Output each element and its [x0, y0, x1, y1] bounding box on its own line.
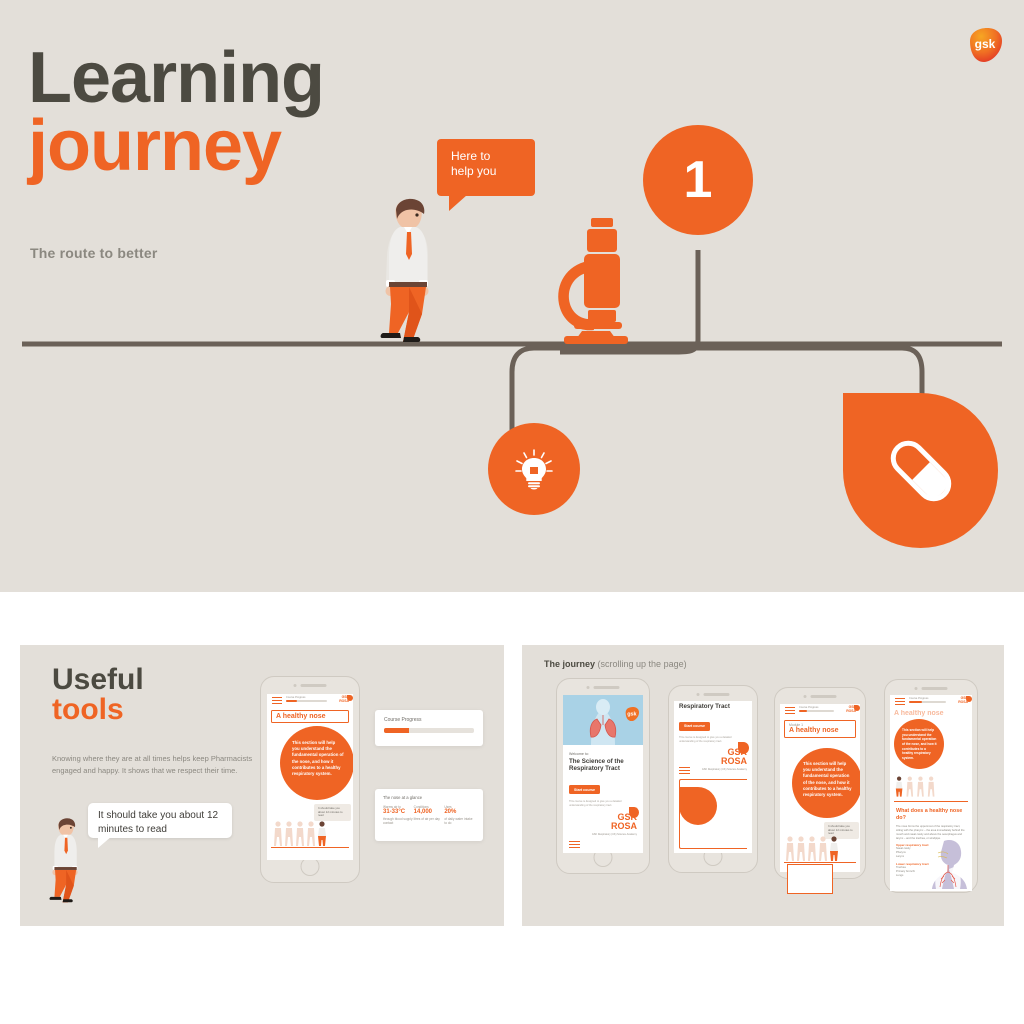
journey-label-rest: (scrolling up the page) — [598, 659, 687, 669]
journey-phone-2: Respiratory Tract Start course This cour… — [668, 685, 758, 873]
welcome-kicker: Welcome to: — [569, 752, 637, 756]
journey-node-1[interactable]: 1 — [643, 125, 753, 235]
tools-speech-bubble-text: It should take you about 12 minutes to r… — [88, 803, 232, 836]
useful-tools-title-line-1: Useful — [52, 663, 144, 696]
hamburger-menu-icon[interactable] — [785, 707, 795, 715]
progress-bar — [286, 700, 327, 702]
screen-divider — [271, 847, 349, 848]
phone-screen: Course Progress GSK ROSA A healthy nose … — [890, 695, 972, 891]
course-progress-bar — [384, 728, 474, 733]
hamburger-menu-icon[interactable] — [895, 698, 905, 706]
section-intro-circle: This section will help you understand th… — [280, 726, 353, 800]
rosa-badge-icon — [854, 705, 860, 711]
journey-phone-4: Course Progress GSK ROSA A healthy nose … — [884, 679, 978, 893]
progress-caption: Course Progress — [909, 697, 928, 700]
anatomy-title: What does a healthy nose do? — [896, 808, 966, 822]
stat-item: Conditions 14,000 litres of air per day — [414, 805, 445, 826]
welcome-note: This course is designed to give you a de… — [679, 736, 747, 744]
rosa-badge-icon — [629, 807, 639, 818]
hero-panel: Learning journey The route to better gsk — [0, 0, 1024, 592]
stat-value: 14,000 — [414, 809, 445, 817]
phone-mini-bubble: It should take you about 12 minutes to r… — [314, 804, 351, 821]
phone-notch — [697, 693, 730, 696]
gsk-logo-small: gsk — [624, 707, 639, 721]
journey-phone-1: gsk Welcome to: The Science of the Respi… — [556, 678, 650, 874]
svg-text:gsk: gsk — [627, 712, 637, 718]
phone-screen: Respiratory Tract Start course This cour… — [674, 701, 752, 853]
course-progress-label: Course Progress — [384, 717, 422, 723]
stat-item: Warms air to 31-33°C through blood suppl… — [383, 805, 414, 826]
journey-node-pill[interactable] — [843, 393, 998, 548]
start-course-button[interactable]: Start course — [679, 722, 710, 731]
tools-speech-bubble: It should take you about 12 minutes to r… — [88, 803, 232, 838]
phone-notch — [294, 684, 327, 687]
phone-screen: Course Progress GSK ROSA Module 1 A heal… — [780, 704, 860, 872]
app-bar: Course Progress GSK ROSA — [890, 695, 972, 708]
stat-detail: of daily water intake to do — [444, 817, 475, 826]
pill-icon — [880, 430, 962, 512]
journey-label-bold: The journey — [544, 659, 595, 669]
nose-stats-row: Warms air to 31-33°C through blood suppl… — [383, 805, 475, 826]
phone-notch — [804, 695, 837, 698]
hero-speech-bubble-text: Here to help you — [437, 139, 535, 179]
welcome-title: The Science of the Respiratory Tract — [569, 758, 637, 773]
welcome-title-scrolled: Respiratory Tract — [679, 703, 747, 710]
decorative-blob — [679, 787, 717, 825]
lightbulb-icon — [512, 447, 556, 491]
phone-notch — [587, 686, 620, 689]
start-course-button[interactable]: Start course — [569, 785, 600, 794]
microscope-icon — [548, 218, 644, 349]
app-bar: Course Progress GSK ROSA — [267, 694, 353, 707]
journey-node-1-number: 1 — [684, 154, 713, 206]
rosa-sublabel: GSK Respiratory (UK) Science Academy — [591, 833, 637, 836]
tools-phone-mockup: Course Progress GSK ROSA A healthy nose … — [260, 676, 360, 883]
section-intro-text: This section will help you understand th… — [902, 728, 937, 760]
progress-caption: Course Progress — [799, 706, 818, 709]
nose-stats-card: The nose at a glance Warms air to 31-33°… — [375, 789, 483, 841]
phone-screen: gsk Welcome to: The Science of the Respi… — [563, 695, 643, 853]
walking-person-icon — [378, 196, 436, 344]
rosa-badge-icon — [347, 695, 353, 701]
hamburger-menu-icon[interactable] — [569, 841, 580, 849]
stat-value: 20% — [444, 809, 475, 817]
section-intro-circle: This section will help you understand th… — [792, 748, 860, 818]
journey-panel: The journey (scrolling up the page) gsk — [522, 645, 1004, 926]
section-intro-text: This section will help you understand th… — [803, 761, 851, 797]
hamburger-menu-icon[interactable] — [679, 767, 690, 775]
faded-header: A healthy nose — [894, 710, 968, 719]
journey-phone-3: Course Progress GSK ROSA Module 1 A heal… — [774, 687, 866, 879]
nose-stats-title: The nose at a glance — [383, 795, 422, 800]
app-bar: Course Progress GSK ROSA — [780, 704, 860, 717]
phone-mini-bubble-text: It should take you about 12 minutes to r… — [318, 806, 343, 817]
anatomy-group-2-item: Lungs — [896, 874, 930, 878]
useful-tools-title: Useful tools — [52, 665, 144, 725]
phone-screen: Course Progress GSK ROSA A healthy nose … — [267, 694, 353, 860]
progress-caption: Course Progress — [286, 696, 305, 699]
journey-label: The journey (scrolling up the page) — [544, 659, 687, 669]
section-intro-text: This section will help you understand th… — [292, 740, 344, 776]
poster-canvas: Learning journey The route to better gsk — [0, 0, 1024, 1024]
people-row-icon — [785, 835, 841, 861]
section-title: A healthy nose — [272, 711, 348, 720]
faded-header-text: A healthy nose — [894, 710, 968, 717]
phone-notch — [915, 687, 948, 690]
course-progress-card: Course Progress — [375, 710, 483, 746]
journey-node-lightbulb[interactable] — [488, 423, 580, 515]
screen-divider — [894, 801, 968, 802]
people-row-icon — [273, 820, 329, 846]
module-title: A healthy nose — [789, 727, 855, 734]
progress-bar — [909, 701, 946, 703]
stat-detail: through blood supply contact — [383, 817, 414, 826]
useful-tools-body: Knowing where they are at all times help… — [52, 753, 262, 776]
welcome-note: This course is designed to give you a de… — [569, 800, 637, 808]
phone-mini-bubble-text: It should take you about 12 minutes to r… — [828, 824, 853, 835]
respiratory-hero-image: gsk — [563, 695, 643, 745]
section-title-box: A healthy nose — [271, 710, 349, 723]
stat-value: 31-33°C — [383, 809, 414, 817]
anatomy-group-1-item: Larynx — [896, 855, 930, 859]
hamburger-menu-icon[interactable] — [272, 697, 282, 705]
rosa-badge-icon — [966, 696, 972, 702]
walking-person-icon-small — [48, 816, 82, 904]
stat-item: Uses 20% of daily water intake to do — [444, 805, 475, 826]
module-title-box: Module 1 A healthy nose — [784, 720, 856, 738]
section-intro-circle: This section will help you understand th… — [894, 719, 944, 769]
progress-bar — [799, 710, 834, 712]
overflow-frame — [787, 864, 833, 894]
stat-detail: litres of air per day — [414, 817, 445, 821]
rosa-badge-icon — [738, 742, 749, 754]
respiratory-anatomy-diagram — [926, 839, 970, 889]
screen-divider — [784, 862, 856, 863]
people-row-icon — [895, 775, 941, 797]
rosa-sublabel: GSK Respiratory (UK) Science Academy — [701, 768, 747, 771]
hero-speech-bubble: Here to help you — [437, 139, 535, 196]
useful-tools-title-line-2: tools — [52, 695, 144, 725]
